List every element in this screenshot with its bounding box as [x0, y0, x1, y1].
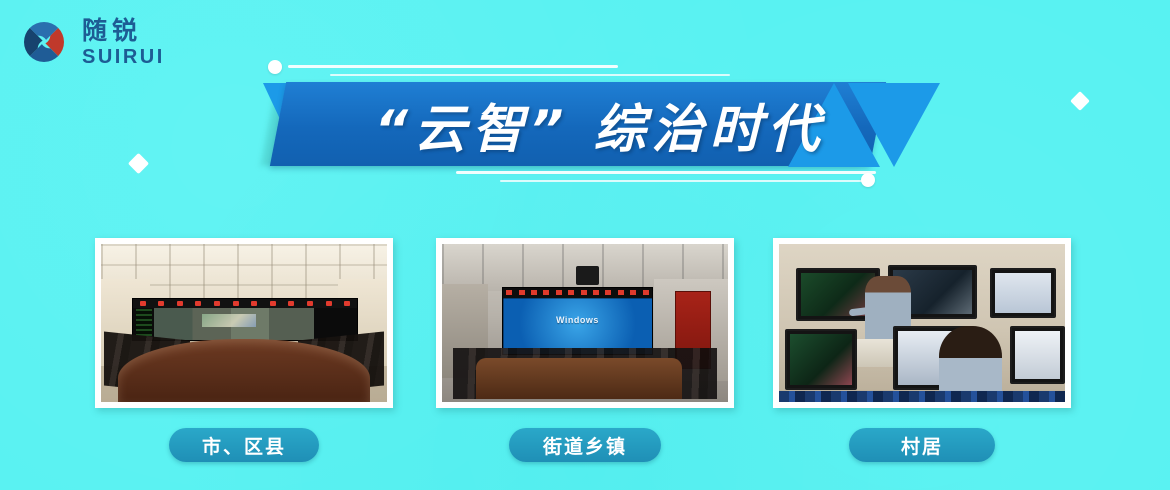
- photo-detail-side-panel: [136, 309, 153, 339]
- photo-detail-projector: [576, 266, 599, 285]
- brand-logo[interactable]: 随锐 SUIRUI: [16, 14, 165, 70]
- decor-line-top-2: [330, 74, 730, 76]
- card-village[interactable]: 村居: [773, 238, 1071, 462]
- decor-line-bottom-2: [500, 180, 870, 182]
- card-city-district[interactable]: 市、区县: [95, 238, 393, 462]
- card-label-text: 市、区县: [202, 432, 286, 459]
- photo-detail-video-wall: [132, 298, 357, 341]
- photo-frame: [95, 238, 393, 408]
- photo-detail-led-ticker: [503, 288, 652, 299]
- photo-frame: [773, 238, 1071, 408]
- photo-detail-monitor-3: [990, 268, 1057, 318]
- white-dot-icon-2: [861, 173, 875, 187]
- street-township-meeting-room-photo: Windows: [442, 244, 728, 402]
- photo-detail-led-ticker: [133, 299, 356, 308]
- card-label-city-district[interactable]: 市、区县: [169, 428, 319, 462]
- brand-wordmark: 随锐 SUIRUI: [82, 18, 165, 67]
- card-label-street-township[interactable]: 街道乡镇: [509, 428, 661, 462]
- brand-name-en: SUIRUI: [82, 47, 165, 67]
- title-banner: “云智” 综治时代: [260, 52, 980, 192]
- photo-detail-screens: [503, 298, 652, 354]
- city-district-command-center-photo: [101, 244, 387, 402]
- suirui-pinwheel-logo-icon: [16, 14, 72, 70]
- card-street-township[interactable]: Windows 街道乡镇: [436, 238, 734, 462]
- photo-detail-windows-logo: Windows: [556, 315, 599, 325]
- card-label-text: 街道乡镇: [543, 432, 627, 459]
- village-monitoring-room-photo: [779, 244, 1065, 402]
- white-diamond-icon-left: [128, 153, 149, 174]
- photo-detail-bottom-strip: [779, 391, 1065, 402]
- card-row: 市、区县 Windows: [0, 238, 1170, 478]
- decor-line-bottom-1: [456, 171, 876, 174]
- card-label-text: 村居: [901, 432, 943, 459]
- photo-detail-monitor-6: [1010, 326, 1065, 384]
- photo-frame: Windows: [436, 238, 734, 408]
- photo-detail-conference-table: [476, 358, 682, 399]
- photo-detail-screens: [154, 308, 315, 340]
- photo-detail-monitor-4: [785, 329, 858, 390]
- slide-canvas: 随锐 SUIRUI “云智” 综治时代: [0, 0, 1170, 490]
- slide-title: “云智” 综治时代: [320, 82, 880, 166]
- card-label-village[interactable]: 村居: [849, 428, 995, 462]
- decor-line-top-1: [288, 65, 618, 68]
- brand-name-cn: 随锐: [82, 18, 165, 43]
- white-dot-icon: [268, 60, 282, 74]
- white-diamond-icon-right: [1070, 91, 1090, 111]
- photo-detail-video-wall: Windows: [502, 287, 653, 355]
